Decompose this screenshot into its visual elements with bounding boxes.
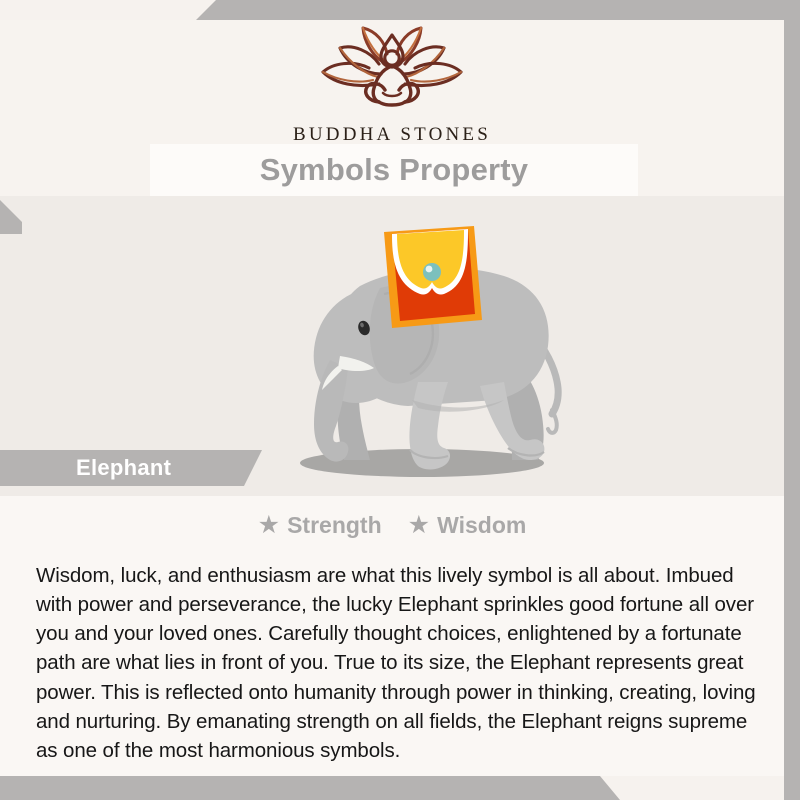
lotus-meditation-figure-icon: [317, 22, 467, 122]
elephant-illustration: [212, 210, 612, 500]
page-title-band: Symbols Property: [150, 144, 638, 196]
attribute-strength: ★ Strength: [258, 512, 382, 539]
attribute-label-wisdom: Wisdom: [437, 512, 526, 539]
brand-wordmark: BUDDHA STONES: [0, 124, 784, 146]
frame-accent-right: [784, 0, 800, 800]
symbols-property-card: BUDDHA STONES Symbols Property: [0, 0, 800, 800]
attributes-row: ★ Strength ★ Wisdom: [0, 512, 784, 539]
page-title: Symbols Property: [260, 152, 529, 188]
frame-accent-bottom: [0, 776, 800, 800]
saddle-gem: [423, 263, 441, 281]
brand-logo-block: BUDDHA STONES: [0, 22, 784, 146]
frame-accent-top: [0, 0, 800, 20]
elephant-saddle: [384, 226, 482, 328]
attribute-label-strength: Strength: [287, 512, 382, 539]
star-icon: ★: [258, 513, 280, 538]
attribute-wisdom: ★ Wisdom: [408, 512, 527, 539]
symbol-name-label: Elephant: [0, 455, 171, 481]
symbol-description: Wisdom, luck, and enthusiasm are what th…: [36, 561, 772, 766]
star-icon: ★: [408, 513, 430, 538]
symbol-name-banner: Elephant: [0, 450, 262, 486]
